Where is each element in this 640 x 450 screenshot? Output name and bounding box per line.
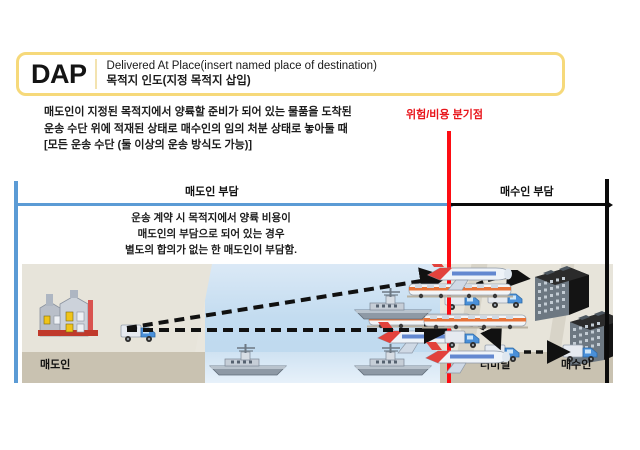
term-header-box: DAP Delivered At Place(insert named plac… — [16, 52, 565, 96]
seller-origin-boundary-bar — [14, 181, 18, 383]
buyer-burden-label: 매수인 부담 — [500, 183, 554, 199]
buyer-burden-arrow — [449, 203, 607, 206]
term-code: DAP — [19, 61, 95, 88]
caption-seller: 매도인 — [40, 356, 70, 372]
slide-canvas: DAP Delivered At Place(insert named plac… — [0, 0, 640, 450]
factory-icon — [36, 290, 108, 338]
term-title-korean: 목적지 인도(지정 목적지 삽입) — [107, 74, 377, 89]
term-title-block: Delivered At Place(insert named place of… — [107, 59, 377, 88]
term-title-english: Delivered At Place(insert named place of… — [107, 59, 377, 74]
term-definition-text: 매도인이 지정된 목적지에서 양륙할 준비가 되어 있는 물품을 도착된 운송 … — [44, 104, 352, 154]
seller-burden-label: 매도인 부담 — [185, 183, 239, 199]
plane-icon — [420, 342, 512, 376]
buyer-destination-boundary-bar — [605, 179, 609, 383]
plane-icon — [422, 264, 514, 293]
seller-burden-arrow — [18, 203, 449, 206]
term-divider — [95, 59, 97, 89]
unloading-cost-note: 운송 계약 시 목적지에서 양륙 비용이 매도인의 부담으로 되어 있는 경우 … — [125, 211, 297, 258]
risk-transfer-label: 위험/비용 분기점 — [406, 106, 483, 122]
caption-buyer: 매수인 — [561, 356, 591, 372]
transport-illustration — [22, 264, 613, 383]
